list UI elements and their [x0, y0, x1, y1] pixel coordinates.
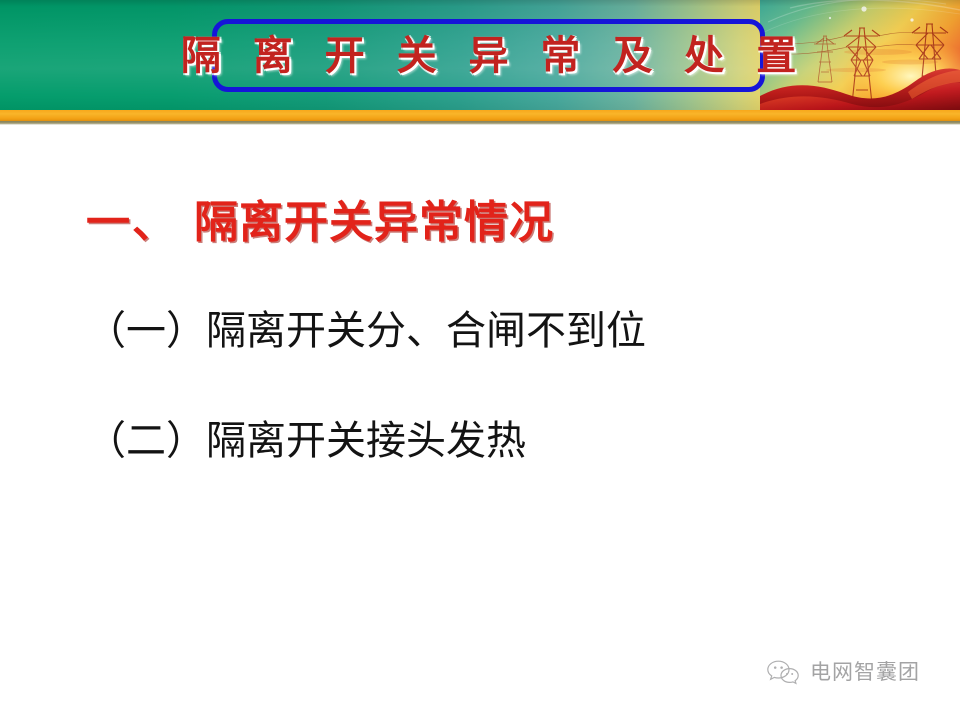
slide: 隔 离 开 关 异 常 及 处 置 一、隔离开关异常情况 （一）隔离开关分、合闸…: [0, 0, 960, 720]
wechat-icon: [766, 658, 800, 686]
slide-header: 隔 离 开 关 异 常 及 处 置: [0, 0, 960, 124]
slide-title: 隔 离 开 关 异 常 及 处 置: [172, 36, 805, 76]
slide-body: 一、隔离开关异常情况 （一）隔离开关分、合闸不到位 （二）隔离开关接头发热: [0, 124, 960, 720]
list-item: （二）隔离开关接头发热: [86, 421, 526, 461]
section-heading-text: 隔离开关异常情况: [194, 197, 554, 248]
list-item: （一）隔离开关分、合闸不到位: [86, 311, 646, 351]
header-gold-divider: [0, 110, 960, 121]
watermark-text: 电网智囊团: [810, 662, 920, 683]
section-heading-number: 一、: [86, 197, 194, 248]
watermark: 电网智囊团: [766, 658, 920, 686]
slide-title-box: 隔 离 开 关 异 常 及 处 置: [212, 19, 765, 92]
section-heading: 一、隔离开关异常情况: [86, 201, 554, 245]
